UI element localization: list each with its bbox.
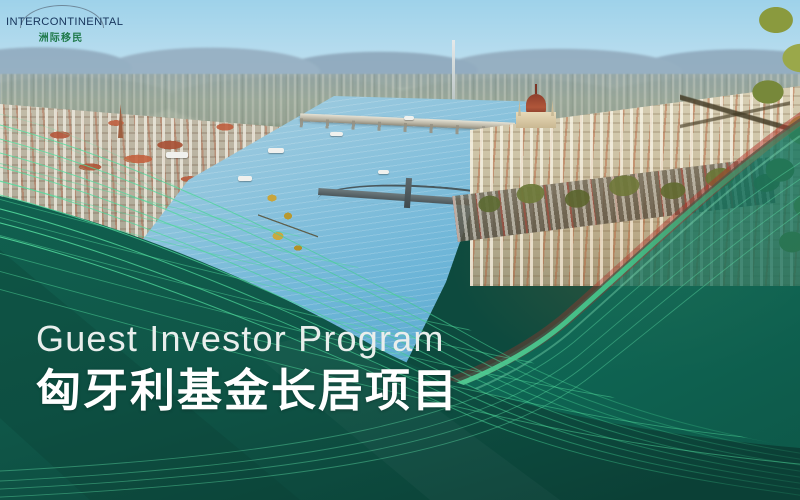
wave-graphics xyxy=(0,0,800,500)
title-chinese: 匈牙利基金长居项目 xyxy=(36,366,596,416)
green-wave-overlay xyxy=(0,0,800,500)
logo-wordmark: INTERCONTINENTAL xyxy=(6,16,116,28)
promo-banner: INTERCONTINENTAL 洲际移民 Guest Investor Pro… xyxy=(0,0,800,500)
logo-chinese-name: 洲际移民 xyxy=(6,29,116,44)
intercontinental-logo[interactable]: INTERCONTINENTAL 洲际移民 xyxy=(6,4,116,44)
title-english: Guest Investor Program xyxy=(36,318,596,360)
headline-block: Guest Investor Program 匈牙利基金长居项目 xyxy=(36,318,596,417)
